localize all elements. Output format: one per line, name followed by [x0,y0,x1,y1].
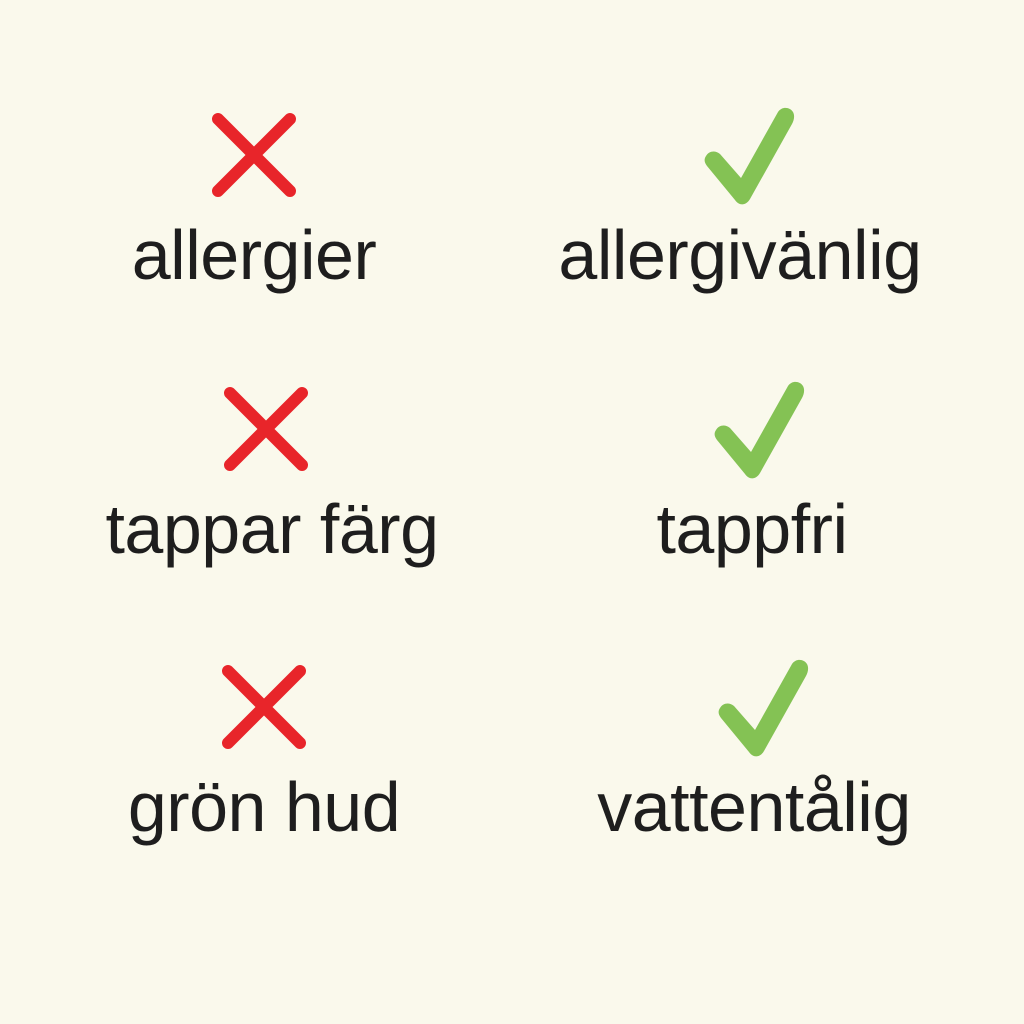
feature-cell-negative: grön hud [8,648,520,920]
feature-label: grön hud [128,772,400,842]
comparison-grid: allergier allergivänlig [0,0,1024,880]
feature-label: allergier [132,220,377,290]
feature-row: allergier allergivänlig [0,96,1024,368]
feature-row: tappar färg tappfri [0,370,1024,642]
feature-label: tappar färg [105,494,438,564]
feature-label: allergivänlig [558,220,921,290]
cross-icon [194,96,314,214]
feature-cell-negative: tappar färg [16,370,528,642]
feature-cell-positive: vattentålig [498,648,1010,920]
cross-icon [206,370,326,488]
comparison-graphic: allergier allergivänlig [0,0,1024,1024]
cross-icon [204,648,324,766]
feature-label: vattentålig [597,772,911,842]
feature-row: grön hud vattentålig [0,648,1024,920]
feature-cell-negative: allergier [0,96,510,368]
check-icon [698,370,818,488]
check-icon [688,96,808,214]
feature-cell-positive: tappfri [496,370,1008,642]
feature-label: tappfri [656,494,847,564]
check-icon [702,648,822,766]
feature-cell-positive: allergivänlig [484,96,996,368]
